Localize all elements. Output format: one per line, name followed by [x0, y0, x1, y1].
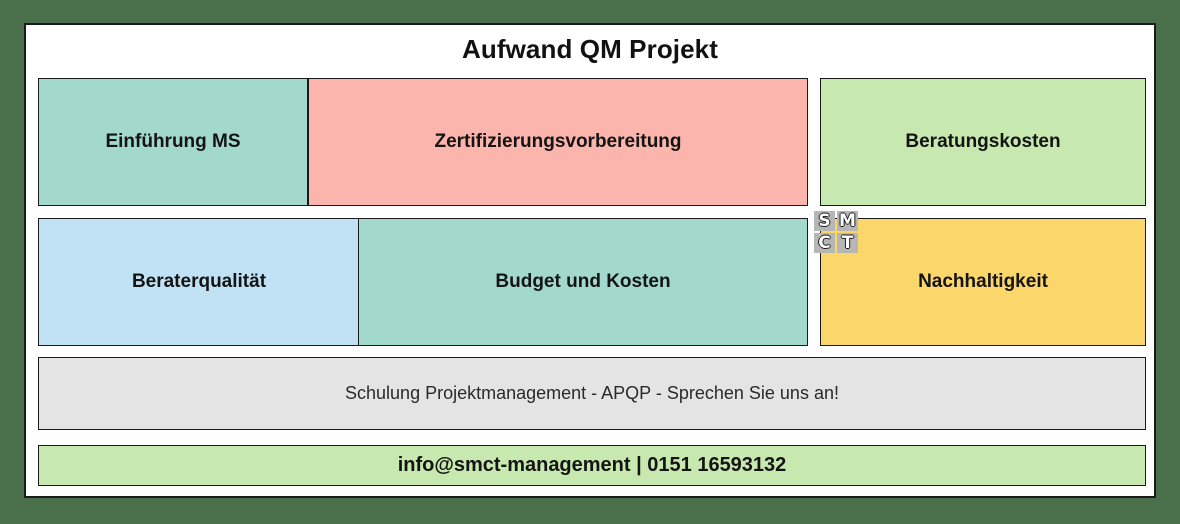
tile-label: Beratungskosten: [821, 130, 1145, 154]
diagram-card: Aufwand QM Projekt Einführung MS Zertifi…: [24, 23, 1156, 498]
tile-label: Zertifizierungsvorbereitung: [309, 130, 807, 154]
tile-beraterqualitaet[interactable]: Beraterqualität: [38, 218, 360, 346]
page-title: Aufwand QM Projekt: [26, 25, 1154, 74]
info-bar-text: Schulung Projektmanagement - APQP - Spre…: [39, 382, 1145, 405]
info-bar-schulung: Schulung Projektmanagement - APQP - Spre…: [38, 357, 1146, 430]
tile-nachhaltigkeit[interactable]: Nachhaltigkeit: [820, 218, 1146, 346]
tile-einfuehrung-ms[interactable]: Einführung MS: [38, 78, 308, 206]
tile-label: Einführung MS: [39, 130, 307, 154]
tile-label: Budget und Kosten: [359, 270, 807, 294]
tile-budget-und-kosten[interactable]: Budget und Kosten: [358, 218, 808, 346]
tile-zertifizierungsvorbereitung[interactable]: Zertifizierungsvorbereitung: [308, 78, 808, 206]
contact-bar[interactable]: info@smct-management | 0151 16593132: [38, 445, 1146, 486]
tile-label: Nachhaltigkeit: [821, 270, 1145, 294]
contact-bar-text: info@smct-management | 0151 16593132: [39, 453, 1145, 478]
tile-label: Beraterqualität: [39, 270, 359, 294]
tile-beratungskosten[interactable]: Beratungskosten: [820, 78, 1146, 206]
